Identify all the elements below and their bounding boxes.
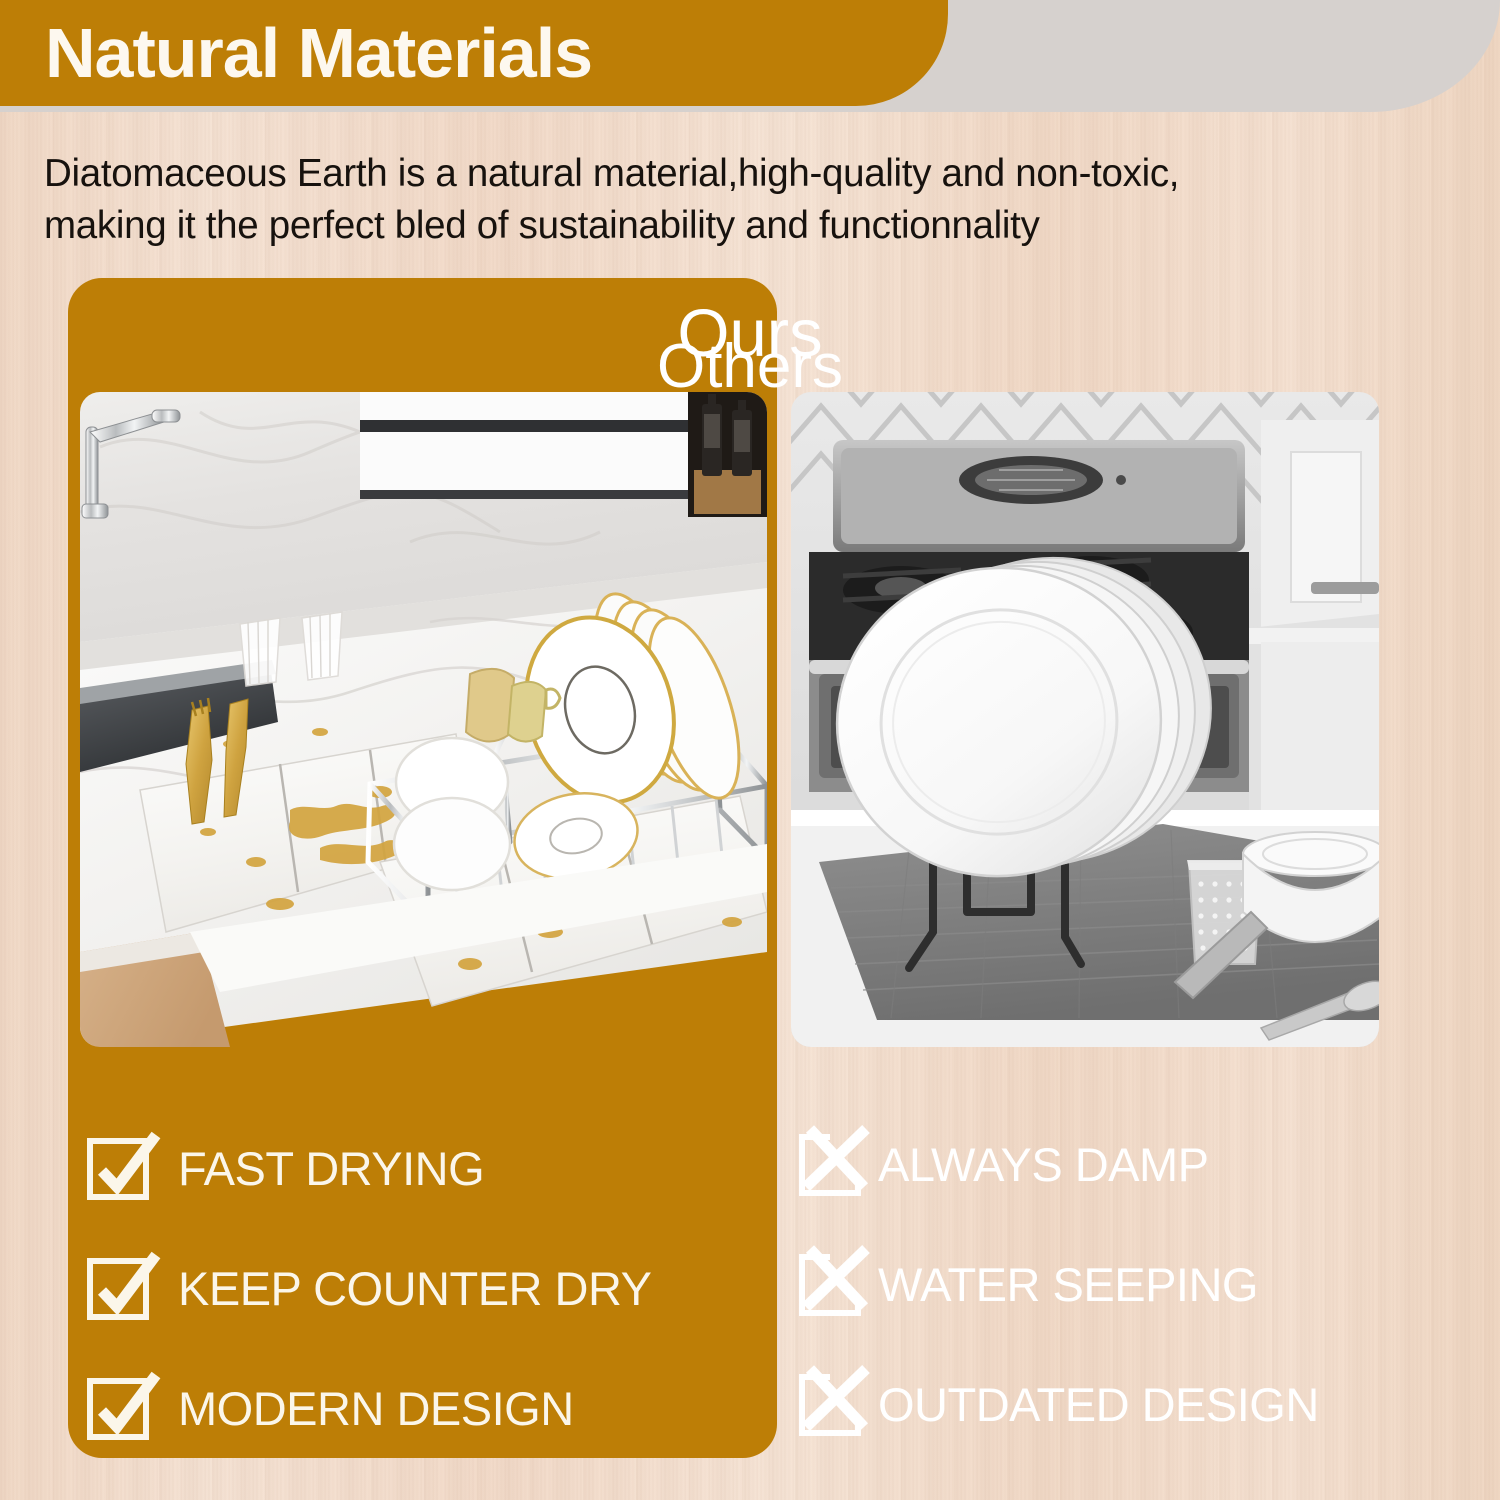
feature-label: KEEP COUNTER DRY	[178, 1265, 651, 1312]
comparison-section: Ours	[0, 0, 1500, 1500]
features-ours: FAST DRYING KEEP COUNTER DRY	[84, 1108, 744, 1468]
feature-label: ALWAYS DAMP	[878, 1141, 1209, 1188]
feature-label: WATER SEEPING	[878, 1261, 1258, 1308]
feature-row: MODERN DESIGN	[84, 1348, 744, 1468]
checkbox-checked-icon	[84, 1129, 162, 1207]
feature-label: MODERN DESIGN	[178, 1385, 574, 1432]
feature-row: KEEP COUNTER DRY	[84, 1228, 744, 1348]
feature-row: ALWAYS DAMP	[796, 1104, 1396, 1224]
checkbox-checked-icon	[84, 1369, 162, 1447]
feature-row: FAST DRYING	[84, 1108, 744, 1228]
checkbox-crossed-icon	[796, 1125, 874, 1203]
panel-title-others: Others	[0, 336, 1500, 398]
photo-others	[791, 392, 1379, 1047]
feature-row: OUTDATED DESIGN	[796, 1344, 1396, 1464]
feature-row: WATER SEEPING	[796, 1224, 1396, 1344]
photo-ours	[80, 392, 767, 1047]
feature-label: OUTDATED DESIGN	[878, 1381, 1319, 1428]
checkbox-crossed-icon	[796, 1365, 874, 1443]
infographic-page: Natural Materials Diatomaceous Earth is …	[0, 0, 1500, 1500]
checkbox-checked-icon	[84, 1249, 162, 1327]
features-others: ALWAYS DAMP WATER SEEPING	[796, 1104, 1396, 1464]
checkbox-crossed-icon	[796, 1245, 874, 1323]
feature-label: FAST DRYING	[178, 1145, 484, 1192]
